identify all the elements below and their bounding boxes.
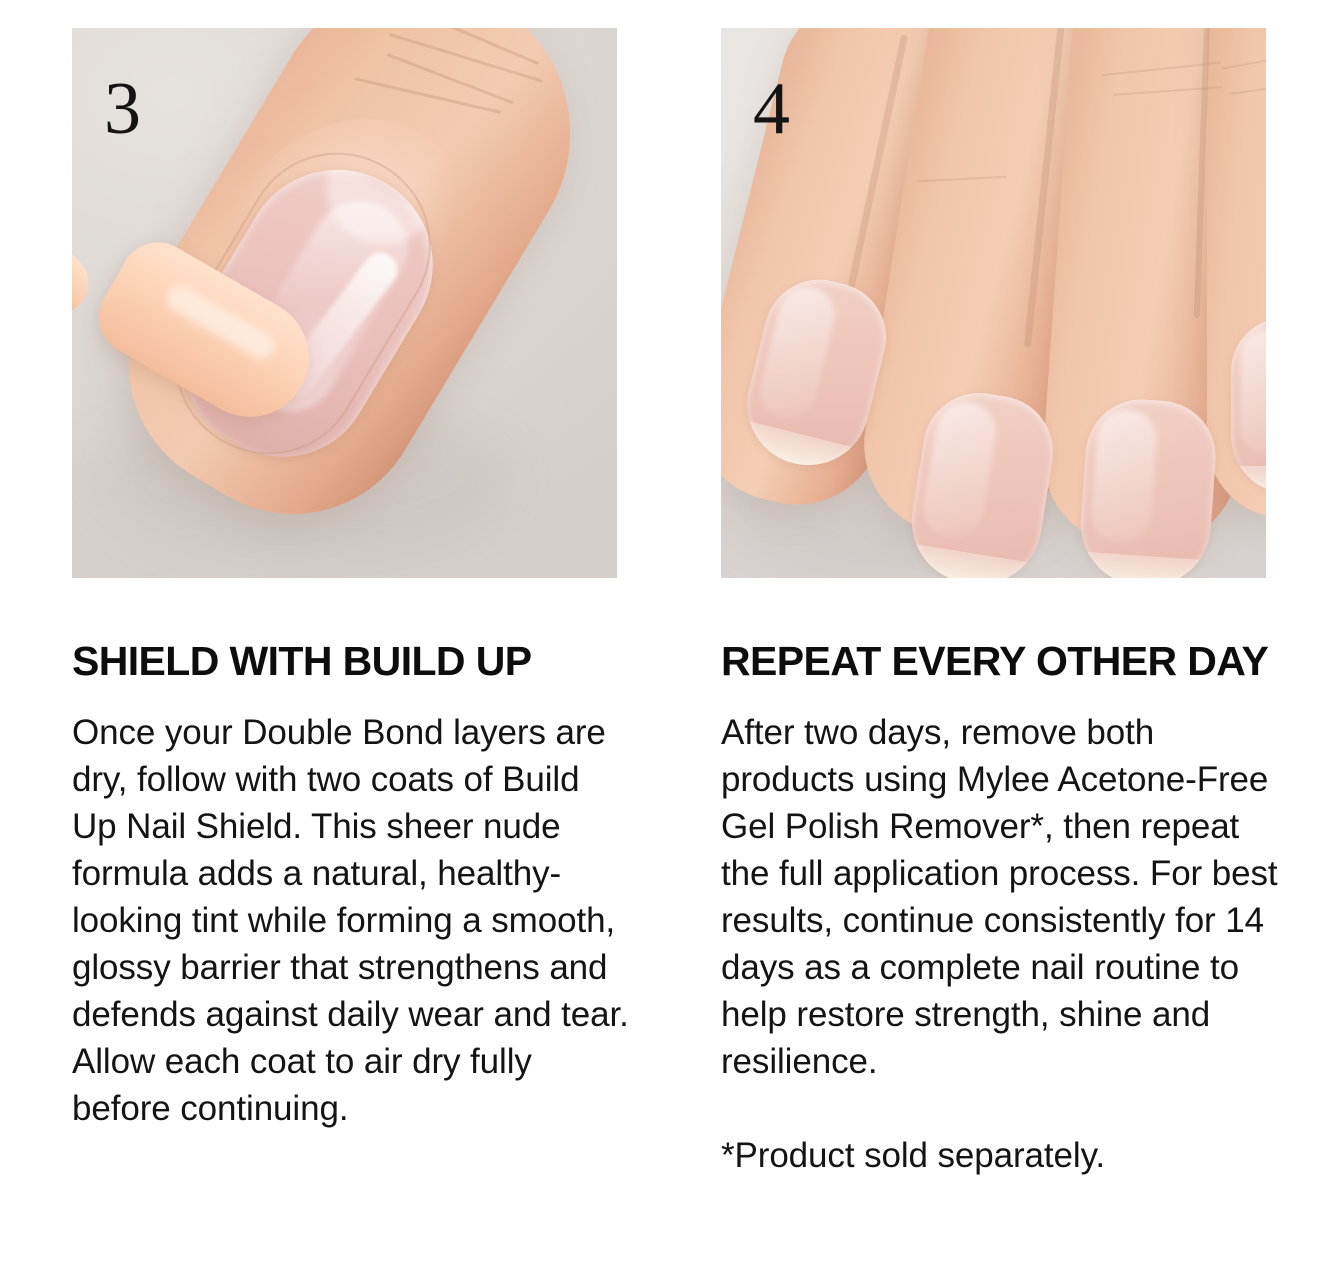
- skin-crease: [427, 28, 539, 65]
- skin-crease: [354, 77, 501, 114]
- step-3-heading: SHIELD WITH BUILD UP: [72, 640, 721, 683]
- skin-crease: [387, 53, 514, 104]
- step-3-photo: 3: [72, 28, 617, 578]
- brush-highlight: [162, 281, 279, 364]
- step-4-body: After two days, remove both products usi…: [721, 709, 1281, 1085]
- step-number-4: 4: [753, 72, 790, 146]
- nail-free-edge: [1077, 552, 1209, 578]
- nail-free-edge: [1231, 466, 1266, 494]
- steps-grid: 3 SHIELD WITH BUILD UP Once your Double …: [0, 0, 1337, 1271]
- nail-free-edge: [903, 543, 1036, 578]
- step-4-photo: 4: [721, 28, 1266, 578]
- step-number-3: 3: [104, 72, 141, 146]
- step-4-footnote: *Product sold separately.: [721, 1132, 1337, 1179]
- natural-nail: [1077, 396, 1220, 578]
- step-card-4: 4 REPEAT EVERY OTHER DAY After two days,…: [721, 0, 1337, 1179]
- instruction-card: 3 SHIELD WITH BUILD UP Once your Double …: [0, 0, 1337, 1271]
- hand-illustration: [721, 28, 1266, 578]
- step-4-heading: REPEAT EVERY OTHER DAY: [721, 640, 1337, 683]
- step-3-body: Once your Double Bond layers are dry, fo…: [72, 709, 632, 1132]
- step-card-3: 3 SHIELD WITH BUILD UP Once your Double …: [0, 0, 721, 1132]
